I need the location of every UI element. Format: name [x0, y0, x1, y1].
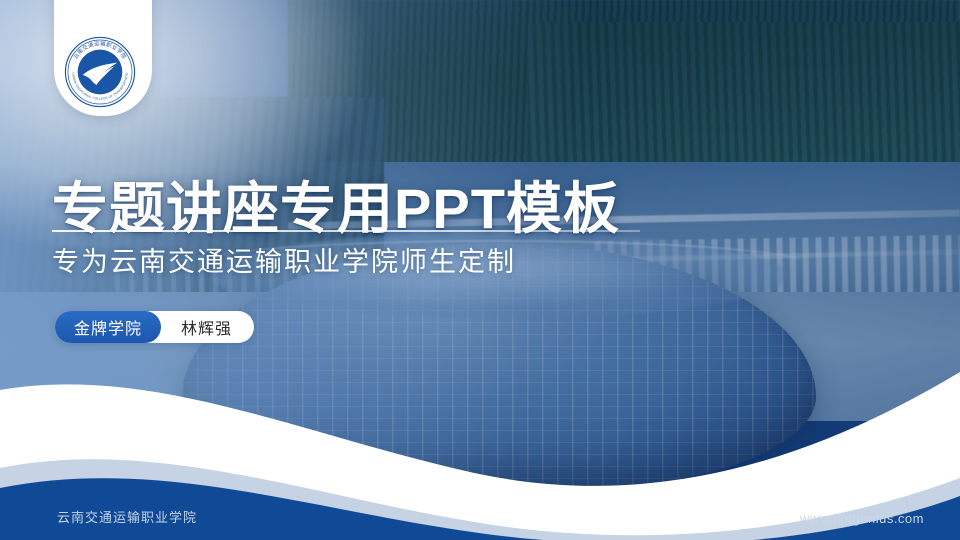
footer-website: www.pptgenius.com	[800, 511, 924, 526]
presentation-slide: 云南交通运输职业学院 YUNNAN VOCATIONAL COLLEGE OF …	[0, 0, 960, 540]
badge-author-name[interactable]: 林辉强	[161, 311, 254, 343]
title-divider	[52, 230, 640, 232]
page-subtitle: 专为云南交通运输职业学院师生定制	[52, 240, 516, 279]
badge-group: 金牌学院 林辉强	[55, 311, 254, 343]
page-title: 专题讲座专用PPT模板	[52, 164, 620, 245]
school-emblem-icon: 云南交通运输职业学院 YUNNAN VOCATIONAL COLLEGE OF …	[64, 36, 136, 108]
badge-gold-college[interactable]: 金牌学院	[55, 311, 161, 343]
footer-school-name: 云南交通运输职业学院	[57, 507, 197, 526]
